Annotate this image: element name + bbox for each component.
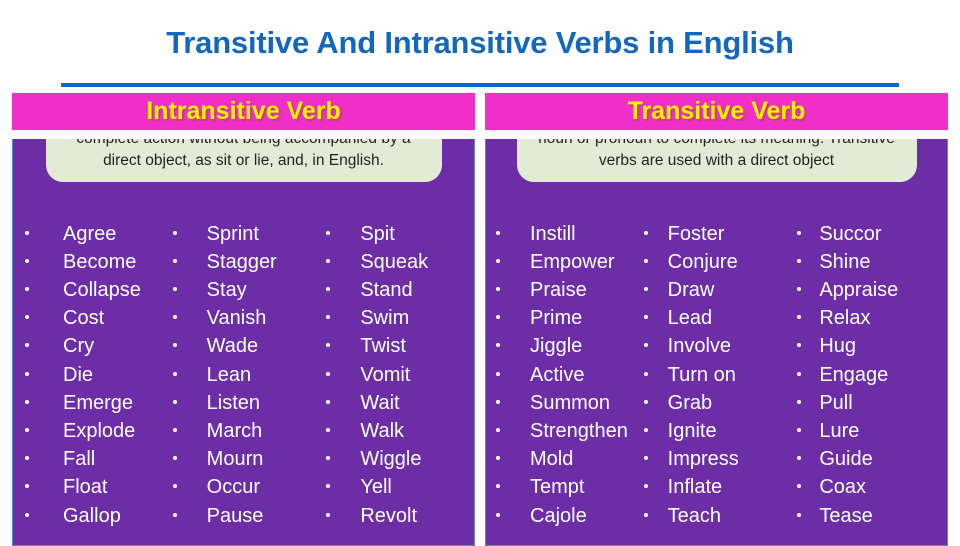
- list-item: Summon: [486, 389, 640, 417]
- list-item: Collapse: [13, 276, 167, 304]
- word-label: Coax: [819, 473, 866, 501]
- list-item: Cost: [13, 304, 167, 332]
- word-label: Draw: [668, 276, 715, 304]
- bullet-icon: [644, 343, 648, 347]
- word-label: Jiggle: [530, 332, 582, 360]
- list-item: Strengthen: [486, 417, 640, 445]
- bullet-icon: [326, 484, 330, 488]
- list-item: Stand: [320, 276, 474, 304]
- list-item: Stagger: [167, 248, 321, 276]
- list-item: Conjure: [640, 248, 794, 276]
- bullet-icon: [496, 287, 500, 291]
- word-label: Agree: [63, 220, 116, 248]
- word-label: Tease: [819, 502, 872, 530]
- word-label: Vomit: [360, 361, 410, 389]
- bullet-icon: [25, 315, 29, 319]
- list-item: Involve: [640, 332, 794, 360]
- word-columns-intransitive: Agree Become Collapse Cost Cry Die Emerg…: [13, 139, 474, 545]
- word-list: Succor Shine Appraise Relax Hug Engage P…: [793, 220, 947, 530]
- list-item: Explode: [13, 417, 167, 445]
- word-label: Wade: [207, 332, 259, 360]
- bullet-icon: [25, 513, 29, 517]
- word-label: Prime: [530, 304, 582, 332]
- bullet-icon: [173, 315, 177, 319]
- list-item: Revolt: [320, 502, 474, 530]
- list-item: Prime: [486, 304, 640, 332]
- bullet-icon: [25, 231, 29, 235]
- list-item: Appraise: [793, 276, 947, 304]
- list-item: Lean: [167, 361, 321, 389]
- word-label: Sprint: [207, 220, 259, 248]
- bullet-icon: [644, 456, 648, 460]
- word-label: Grab: [668, 389, 712, 417]
- bullet-icon: [326, 400, 330, 404]
- list-item: Praise: [486, 276, 640, 304]
- word-label: Praise: [530, 276, 587, 304]
- word-label: Become: [63, 248, 136, 276]
- word-label: Impress: [668, 445, 739, 473]
- list-item: Wiggle: [320, 445, 474, 473]
- bullet-icon: [797, 400, 801, 404]
- panels-container: Intransitive Verb An intransitive verb i…: [0, 93, 960, 546]
- bullet-icon: [644, 287, 648, 291]
- bullet-icon: [797, 287, 801, 291]
- list-item: Teach: [640, 502, 794, 530]
- title-underline-rule: [61, 83, 899, 87]
- word-label: Foster: [668, 220, 725, 248]
- list-item: Die: [13, 361, 167, 389]
- bullet-icon: [496, 428, 500, 432]
- bullet-icon: [644, 259, 648, 263]
- bullet-icon: [644, 400, 648, 404]
- bullet-icon: [25, 400, 29, 404]
- bullet-icon: [326, 372, 330, 376]
- word-list: Spit Squeak Stand Swim Twist Vomit Wait …: [320, 220, 474, 530]
- bullet-icon: [496, 343, 500, 347]
- word-label: Turn on: [668, 361, 736, 389]
- list-item: Empower: [486, 248, 640, 276]
- list-item: Foster: [640, 220, 794, 248]
- bullet-icon: [25, 372, 29, 376]
- word-label: Cry: [63, 332, 94, 360]
- bullet-icon: [797, 456, 801, 460]
- word-label: Instill: [530, 220, 576, 248]
- list-item: March: [167, 417, 321, 445]
- word-column-3: Spit Squeak Stand Swim Twist Vomit Wait …: [320, 220, 474, 545]
- list-item: Instill: [486, 220, 640, 248]
- list-item: Swim: [320, 304, 474, 332]
- list-item: Float: [13, 473, 167, 501]
- bullet-icon: [173, 372, 177, 376]
- bullet-icon: [25, 456, 29, 460]
- word-label: March: [207, 417, 263, 445]
- word-label: Summon: [530, 389, 610, 417]
- word-list: Instill Empower Praise Prime Jiggle Acti…: [486, 220, 640, 530]
- bullet-icon: [326, 343, 330, 347]
- word-label: Wait: [360, 389, 399, 417]
- bullet-icon: [644, 513, 648, 517]
- word-label: Listen: [207, 389, 260, 417]
- bullet-icon: [173, 343, 177, 347]
- word-label: Gallop: [63, 502, 121, 530]
- bullet-icon: [25, 287, 29, 291]
- list-item: Cry: [13, 332, 167, 360]
- list-item: Coax: [793, 473, 947, 501]
- list-item: Inflate: [640, 473, 794, 501]
- word-label: Cost: [63, 304, 104, 332]
- list-item: Shine: [793, 248, 947, 276]
- word-label: Swim: [360, 304, 409, 332]
- bullet-icon: [644, 428, 648, 432]
- bullet-icon: [797, 372, 801, 376]
- list-item: Mold: [486, 445, 640, 473]
- list-item: Vanish: [167, 304, 321, 332]
- word-label: Walk: [360, 417, 404, 445]
- list-item: Pull: [793, 389, 947, 417]
- bullet-icon: [797, 484, 801, 488]
- panel-header-title: Intransitive Verb: [146, 97, 341, 126]
- word-label: Guide: [819, 445, 872, 473]
- bullet-icon: [173, 428, 177, 432]
- word-label: Twist: [360, 332, 406, 360]
- bullet-icon: [797, 231, 801, 235]
- list-item: Listen: [167, 389, 321, 417]
- bullet-icon: [496, 400, 500, 404]
- word-column-3: Succor Shine Appraise Relax Hug Engage P…: [793, 220, 947, 545]
- word-list: Sprint Stagger Stay Vanish Wade Lean Lis…: [167, 220, 321, 530]
- word-label: Empower: [530, 248, 614, 276]
- word-label: Stand: [360, 276, 412, 304]
- list-item: Relax: [793, 304, 947, 332]
- bullet-icon: [326, 315, 330, 319]
- bullet-icon: [326, 513, 330, 517]
- word-label: Lead: [668, 304, 713, 332]
- word-label: Ignite: [668, 417, 717, 445]
- word-label: Cajole: [530, 502, 587, 530]
- bullet-icon: [173, 400, 177, 404]
- list-item: Succor: [793, 220, 947, 248]
- bullet-icon: [797, 428, 801, 432]
- panel-body-transitive: A transitive verb requires an object in …: [485, 139, 948, 546]
- bullet-icon: [25, 428, 29, 432]
- word-label: Occur: [207, 473, 260, 501]
- word-label: Stagger: [207, 248, 277, 276]
- bullet-icon: [644, 231, 648, 235]
- word-label: Engage: [819, 361, 888, 389]
- bullet-icon: [644, 315, 648, 319]
- list-item: Tease: [793, 502, 947, 530]
- bullet-icon: [644, 372, 648, 376]
- word-list: Foster Conjure Draw Lead Involve Turn on…: [640, 220, 794, 530]
- word-label: Revolt: [360, 502, 417, 530]
- word-label: Lean: [207, 361, 252, 389]
- list-item: Pause: [167, 502, 321, 530]
- list-item: Twist: [320, 332, 474, 360]
- bullet-icon: [797, 315, 801, 319]
- list-item: Wait: [320, 389, 474, 417]
- bullet-icon: [25, 259, 29, 263]
- word-label: Spit: [360, 220, 394, 248]
- list-item: Agree: [13, 220, 167, 248]
- list-item: Spit: [320, 220, 474, 248]
- bullet-icon: [326, 287, 330, 291]
- word-label: Relax: [819, 304, 870, 332]
- list-item: Stay: [167, 276, 321, 304]
- list-item: Guide: [793, 445, 947, 473]
- definition-callout-transitive: A transitive verb requires an object in …: [517, 139, 917, 182]
- word-label: Active: [530, 361, 584, 389]
- list-item: Tempt: [486, 473, 640, 501]
- list-item: Grab: [640, 389, 794, 417]
- panel-transitive: Transitive Verb A transitive verb requir…: [485, 93, 948, 546]
- bullet-icon: [173, 287, 177, 291]
- word-column-2: Foster Conjure Draw Lead Involve Turn on…: [640, 220, 794, 545]
- bullet-icon: [496, 231, 500, 235]
- list-item: Active: [486, 361, 640, 389]
- list-item: Walk: [320, 417, 474, 445]
- list-item: Squeak: [320, 248, 474, 276]
- word-label: Shine: [819, 248, 870, 276]
- word-label: Mourn: [207, 445, 264, 473]
- word-label: Pull: [819, 389, 852, 417]
- word-columns-transitive: Instill Empower Praise Prime Jiggle Acti…: [486, 139, 947, 545]
- bullet-icon: [173, 456, 177, 460]
- word-label: Inflate: [668, 473, 722, 501]
- word-label: Conjure: [668, 248, 738, 276]
- word-label: Hug: [819, 332, 856, 360]
- list-item: Occur: [167, 473, 321, 501]
- list-item: Yell: [320, 473, 474, 501]
- word-label: Mold: [530, 445, 573, 473]
- word-column-2: Sprint Stagger Stay Vanish Wade Lean Lis…: [167, 220, 321, 545]
- list-item: Turn on: [640, 361, 794, 389]
- word-label: Die: [63, 361, 93, 389]
- list-item: Draw: [640, 276, 794, 304]
- list-item: Fall: [13, 445, 167, 473]
- bullet-icon: [326, 428, 330, 432]
- list-item: Lure: [793, 417, 947, 445]
- word-label: Emerge: [63, 389, 133, 417]
- bullet-icon: [496, 484, 500, 488]
- list-item: Wade: [167, 332, 321, 360]
- bullet-icon: [797, 513, 801, 517]
- word-list: Agree Become Collapse Cost Cry Die Emerg…: [13, 220, 167, 530]
- panel-body-intransitive: An intransitive verb is a “verb that ind…: [12, 139, 475, 546]
- bullet-icon: [326, 456, 330, 460]
- word-label: Strengthen: [530, 417, 628, 445]
- bullet-icon: [25, 343, 29, 347]
- list-item: Mourn: [167, 445, 321, 473]
- word-label: Fall: [63, 445, 95, 473]
- bullet-icon: [173, 484, 177, 488]
- word-label: Succor: [819, 220, 881, 248]
- word-label: Appraise: [819, 276, 898, 304]
- bullet-icon: [496, 513, 500, 517]
- list-item: Emerge: [13, 389, 167, 417]
- list-item: Ignite: [640, 417, 794, 445]
- list-item: Impress: [640, 445, 794, 473]
- bullet-icon: [326, 259, 330, 263]
- bullet-icon: [496, 456, 500, 460]
- panel-header-intransitive: Intransitive Verb: [12, 93, 475, 130]
- bullet-icon: [644, 484, 648, 488]
- list-item: Jiggle: [486, 332, 640, 360]
- word-label: Wiggle: [360, 445, 421, 473]
- word-label: Tempt: [530, 473, 584, 501]
- word-label: Involve: [668, 332, 731, 360]
- bullet-icon: [496, 315, 500, 319]
- bullet-icon: [326, 231, 330, 235]
- page-title: Transitive And Intransitive Verbs in Eng…: [0, 21, 960, 62]
- list-item: Become: [13, 248, 167, 276]
- word-label: Vanish: [207, 304, 267, 332]
- word-label: Explode: [63, 417, 135, 445]
- list-item: Engage: [793, 361, 947, 389]
- list-item: Gallop: [13, 502, 167, 530]
- list-item: Sprint: [167, 220, 321, 248]
- bullet-icon: [173, 259, 177, 263]
- word-label: Pause: [207, 502, 264, 530]
- bullet-icon: [25, 484, 29, 488]
- bullet-icon: [173, 231, 177, 235]
- panel-intransitive: Intransitive Verb An intransitive verb i…: [12, 93, 475, 546]
- word-label: Squeak: [360, 248, 428, 276]
- panel-header-title: Transitive Verb: [628, 97, 806, 126]
- bullet-icon: [496, 372, 500, 376]
- word-column-1: Agree Become Collapse Cost Cry Die Emerg…: [13, 220, 167, 545]
- list-item: Vomit: [320, 361, 474, 389]
- list-item: Lead: [640, 304, 794, 332]
- word-label: Stay: [207, 276, 247, 304]
- word-label: Lure: [819, 417, 859, 445]
- panel-header-transitive: Transitive Verb: [485, 93, 948, 130]
- word-label: Float: [63, 473, 107, 501]
- list-item: Hug: [793, 332, 947, 360]
- bullet-icon: [173, 513, 177, 517]
- bullet-icon: [496, 259, 500, 263]
- word-label: Collapse: [63, 276, 141, 304]
- word-label: Yell: [360, 473, 392, 501]
- word-column-1: Instill Empower Praise Prime Jiggle Acti…: [486, 220, 640, 545]
- definition-callout-intransitive: An intransitive verb is a “verb that ind…: [46, 139, 442, 182]
- bullet-icon: [797, 343, 801, 347]
- bullet-icon: [797, 259, 801, 263]
- list-item: Cajole: [486, 502, 640, 530]
- word-label: Teach: [668, 502, 721, 530]
